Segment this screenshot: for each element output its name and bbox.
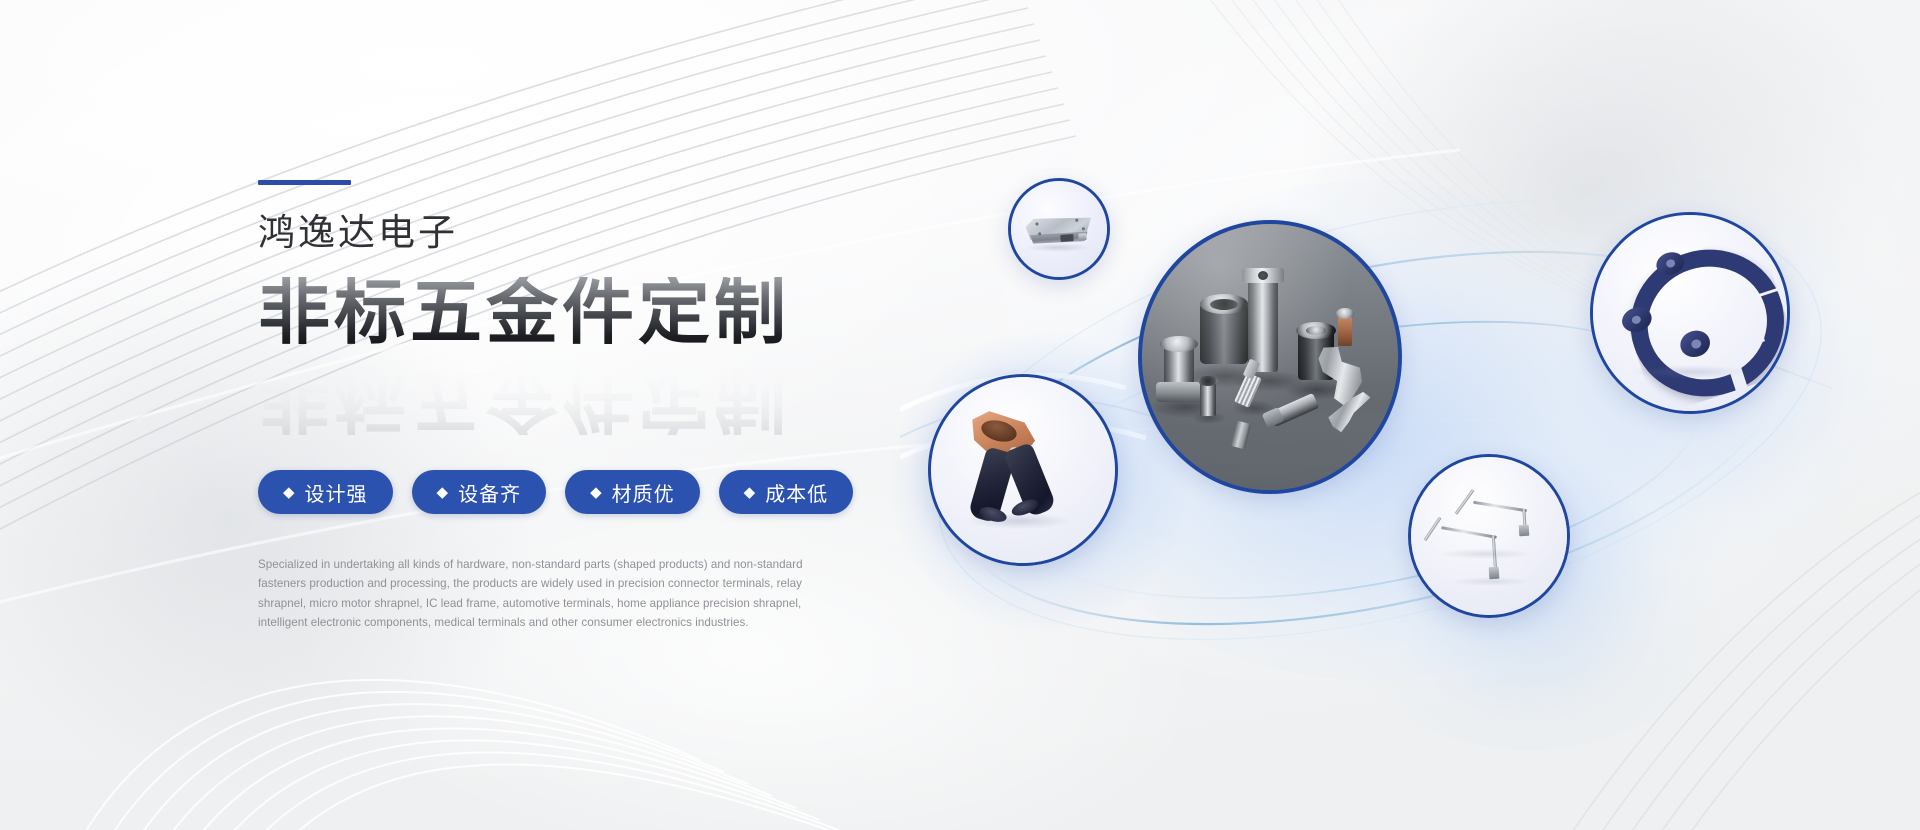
feature-pill-label: 设计强	[305, 478, 368, 507]
accent-bar	[258, 180, 351, 185]
hero-copy: 鸿逸达电子 非标五金件定制 非标五金件定制	[258, 180, 898, 405]
diamond-icon: ◆	[283, 485, 296, 500]
product-bubble-bent-terminals[interactable]	[1408, 454, 1570, 618]
feature-pill-label: 设备齐	[458, 478, 521, 507]
feature-pill-list: ◆ 设计强 ◆ 设备齐 ◆ 材质优 ◆ 成本低	[258, 470, 853, 514]
description-text: Specialized in undertaking all kinds of …	[258, 555, 821, 633]
headline-reflection: 非标五金件定制	[258, 363, 790, 435]
product-bubble-shield-box[interactable]	[1008, 178, 1110, 280]
diamond-icon: ◆	[437, 485, 450, 500]
brand-name: 鸿逸达电子	[258, 214, 898, 251]
product-bubble-machined-parts[interactable]	[1138, 220, 1402, 494]
product-showcase	[900, 120, 1920, 680]
feature-pill-label: 材质优	[612, 478, 675, 507]
diamond-icon: ◆	[590, 485, 603, 500]
machined-parts-scene	[1142, 224, 1398, 490]
feature-pill-0[interactable]: ◆ 设计强	[258, 470, 393, 514]
hero-banner: 鸿逸达电子 非标五金件定制 非标五金件定制 ◆ 设计强 ◆ 设备齐 ◆ 材质优 …	[0, 0, 1920, 830]
page-title: 非标五金件定制	[258, 277, 790, 349]
feature-pill-3[interactable]: ◆ 成本低	[719, 470, 854, 514]
feature-pill-1[interactable]: ◆ 设备齐	[412, 470, 547, 514]
product-bubble-battery-clamp[interactable]	[928, 374, 1118, 566]
headline-block: 非标五金件定制 非标五金件定制	[258, 277, 898, 405]
diamond-icon: ◆	[744, 485, 757, 500]
feature-pill-2[interactable]: ◆ 材质优	[565, 470, 700, 514]
feature-pill-label: 成本低	[765, 478, 828, 507]
product-bubble-snap-ring[interactable]	[1590, 212, 1790, 414]
